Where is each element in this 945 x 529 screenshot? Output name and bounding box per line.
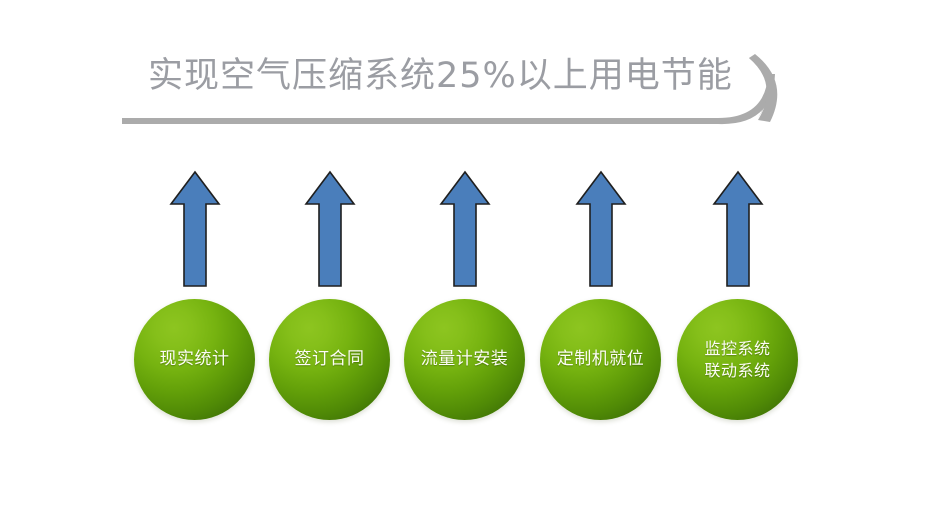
step-5-circle[interactable]: 监控系统 联动系统 [677,299,798,420]
step-1[interactable]: 现实统计 [131,168,257,424]
step-2[interactable]: 签订合同 [266,168,392,424]
up-arrow-icon [304,170,356,288]
step-3-circle[interactable]: 流量计安装 [404,299,525,420]
step-2-circle[interactable]: 签订合同 [269,299,390,420]
step-1-circle[interactable]: 现实统计 [134,299,255,420]
step-2-label: 签订合同 [295,348,365,371]
step-1-arrow [131,168,257,290]
step-2-arrow [266,168,392,290]
step-4[interactable]: 定制机就位 [537,168,663,424]
step-4-circle[interactable]: 定制机就位 [540,299,661,420]
slide-canvas: 实现空气压缩系统25%以上用电节能 现实统计 签订合同 [0,0,945,529]
step-3-label: 流量计安装 [421,348,509,371]
step-5[interactable]: 监控系统 联动系统 [674,168,800,424]
steps-row: 现实统计 签订合同 流量计安装 [0,0,945,529]
step-5-arrow [674,168,800,290]
step-5-label: 监控系统 联动系统 [704,338,770,382]
up-arrow-icon [575,170,627,288]
step-4-label: 定制机就位 [557,348,645,371]
up-arrow-icon [712,170,764,288]
step-3[interactable]: 流量计安装 [401,168,527,424]
up-arrow-icon [169,170,221,288]
up-arrow-icon [439,170,491,288]
step-4-arrow [537,168,663,290]
step-1-label: 现实统计 [160,348,230,371]
step-3-arrow [401,168,527,290]
